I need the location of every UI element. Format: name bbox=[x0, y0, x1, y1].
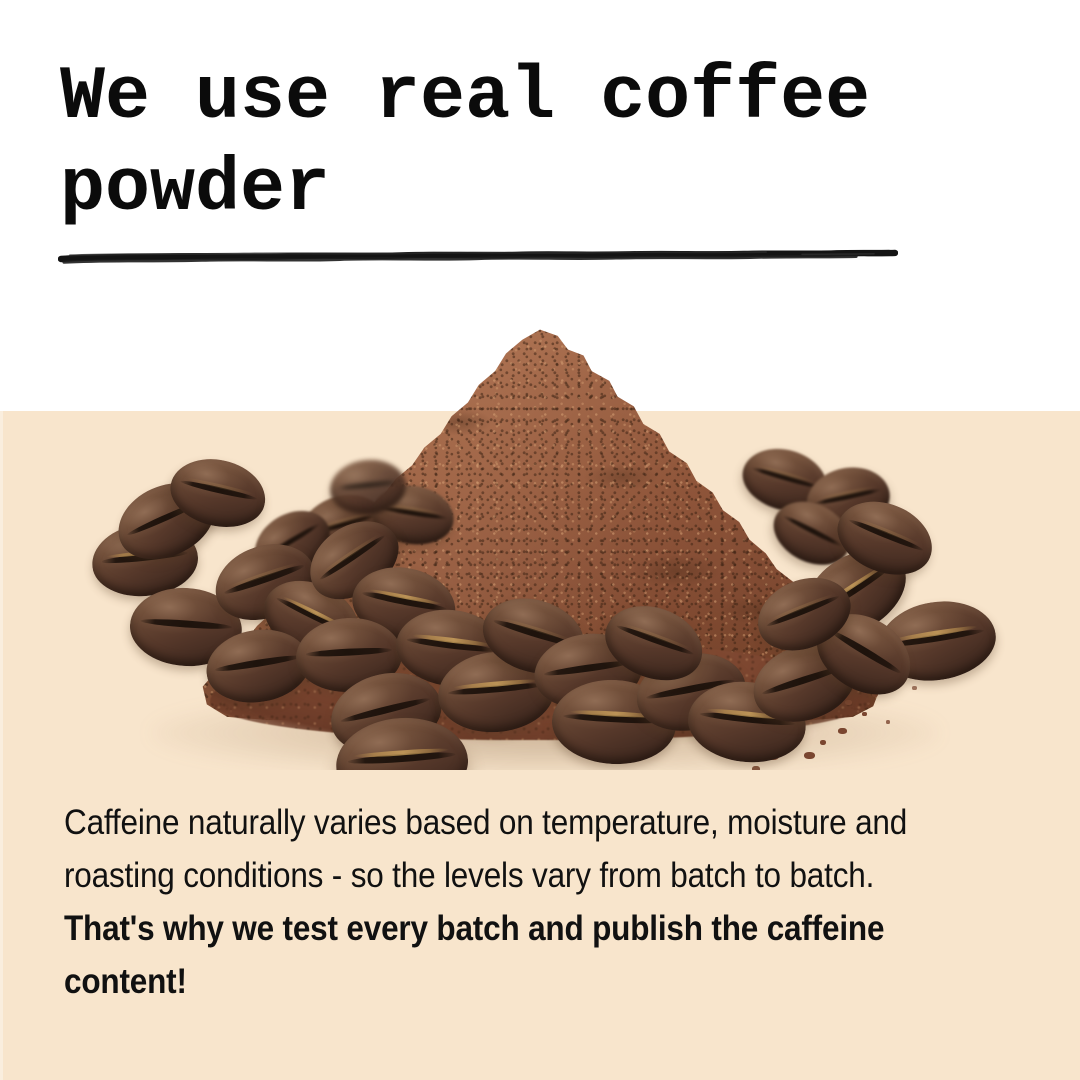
coffee-ground-crumb bbox=[820, 740, 826, 745]
coffee-powder-poster: We use real coffee powder bbox=[0, 0, 1080, 1080]
body-paragraph: Caffeine naturally varies based on tempe… bbox=[64, 796, 910, 1008]
coffee-ground-crumb bbox=[845, 700, 852, 705]
body-text-bold: That's why we test every batch and publi… bbox=[64, 909, 884, 1001]
coffee-ground-crumb bbox=[838, 728, 847, 734]
coffee-ground-crumb bbox=[912, 686, 917, 690]
page-title: We use real coffee powder bbox=[60, 52, 1020, 235]
coffee-ground-crumb bbox=[886, 720, 890, 724]
coffee-ground-crumb bbox=[862, 712, 867, 716]
coffee-powder-hero-image bbox=[0, 300, 1080, 770]
hand-drawn-underline-icon bbox=[58, 243, 898, 269]
coffee-ground-crumb bbox=[804, 752, 815, 759]
coffee-ground-crumb bbox=[752, 766, 760, 770]
body-text-regular: Caffeine naturally varies based on tempe… bbox=[64, 803, 907, 895]
